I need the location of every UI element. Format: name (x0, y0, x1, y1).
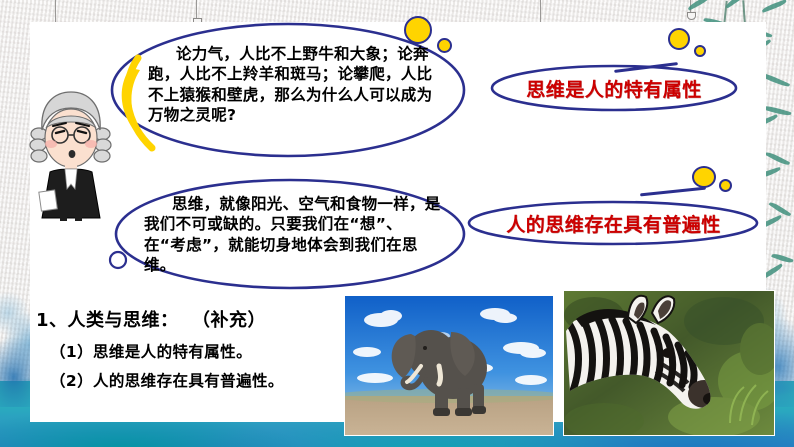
bottom-title: 1、人类与思维： （补充） (36, 306, 336, 332)
speech-bubble-question-text: 论力气，人比不上野牛和大象；论奔跑，人比不上羚羊和斑马；论攀爬，人比不上猿猴和壁… (148, 44, 448, 126)
thought-dot-large (404, 16, 432, 44)
photo-zebra (563, 290, 775, 436)
bamboo-leaf-icon (765, 150, 790, 167)
bottom-text-block: 1、人类与思维： （补充） （1）思维是人的特有属性。 （2）人的思维存在具有普… (36, 306, 336, 398)
thought-dot-small (694, 45, 706, 57)
speech-bubble-statement: 思维，就像阳光、空气和食物一样，是我们不可或缺的。只要我们在“想”、在“考虑”，… (108, 176, 468, 294)
thought-dot-large (692, 166, 716, 188)
callout-universality: 人的思维存在具有普遍性 (466, 199, 761, 247)
judge-character-illustration (22, 86, 120, 221)
bottom-item-2: （2）人的思维存在具有普遍性。 (50, 369, 336, 391)
thought-dot-large (668, 28, 690, 50)
thought-dot-small (719, 179, 732, 192)
bottom-item-1: （1）思维是人的特有属性。 (50, 340, 336, 362)
photo-elephant (344, 295, 554, 436)
bamboo-leaf-icon (687, 0, 712, 11)
bamboo-leaf-icon (725, 0, 751, 9)
speech-bubble-statement-text: 思维，就像阳光、空气和食物一样，是我们不可或缺的。只要我们在“想”、在“考虑”，… (144, 194, 444, 276)
slide-canvas: 论力气，人比不上野牛和大象；论奔跑，人比不上羚羊和斑马；论攀爬，人比不上猿猴和壁… (0, 0, 794, 447)
bamboo-leaf-icon (761, 0, 787, 13)
callout-unique-attribute-text: 思维是人的特有属性 (489, 63, 739, 113)
thought-dot-small (437, 38, 452, 53)
callout-universality-text: 人的思维存在具有普遍性 (466, 199, 761, 247)
callout-unique-attribute: 思维是人的特有属性 (489, 63, 739, 113)
